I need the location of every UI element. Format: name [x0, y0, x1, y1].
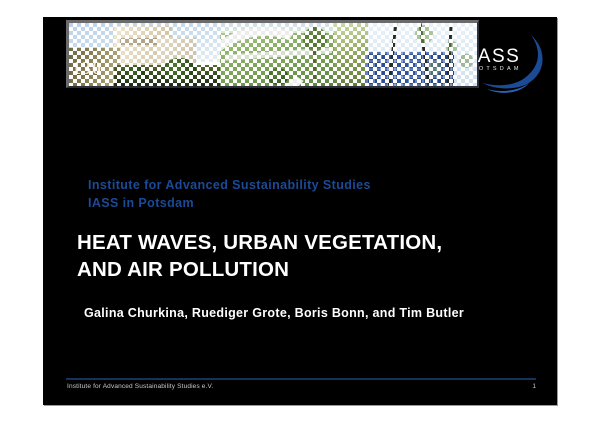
iass-logo: IASS POTSDAM [471, 29, 555, 95]
logo-subtitle: POTSDAM [472, 66, 522, 72]
banner-image-strip: 130 [66, 20, 479, 88]
house-number-label: 130 [72, 58, 102, 79]
bush-large [163, 58, 196, 82]
organization-line: Institute for Advanced Sustainability St… [88, 177, 371, 213]
green-foliage-left [334, 23, 368, 86]
tree [300, 27, 330, 82]
page-title: HEAT WAVES, URBAN VEGETATION, AND AIR PO… [77, 229, 547, 283]
presentation-slide: 130 [43, 17, 557, 405]
authors-line: Galina Churkina, Ruediger Grote, Boris B… [84, 306, 464, 320]
blue-building-trees-photo [334, 23, 477, 86]
footer-page-number: 1 [508, 383, 536, 390]
footer-divider [66, 378, 536, 380]
logo-wordmark: IASS [471, 47, 520, 66]
building-facade-photo: 130 [69, 23, 220, 86]
photo-strip: 130 [69, 23, 477, 86]
park-lawn-path-photo [220, 23, 334, 86]
tree-foliage [411, 23, 477, 86]
shrub [268, 68, 289, 84]
footer-text: Institute for Advanced Sustainability St… [67, 383, 213, 390]
